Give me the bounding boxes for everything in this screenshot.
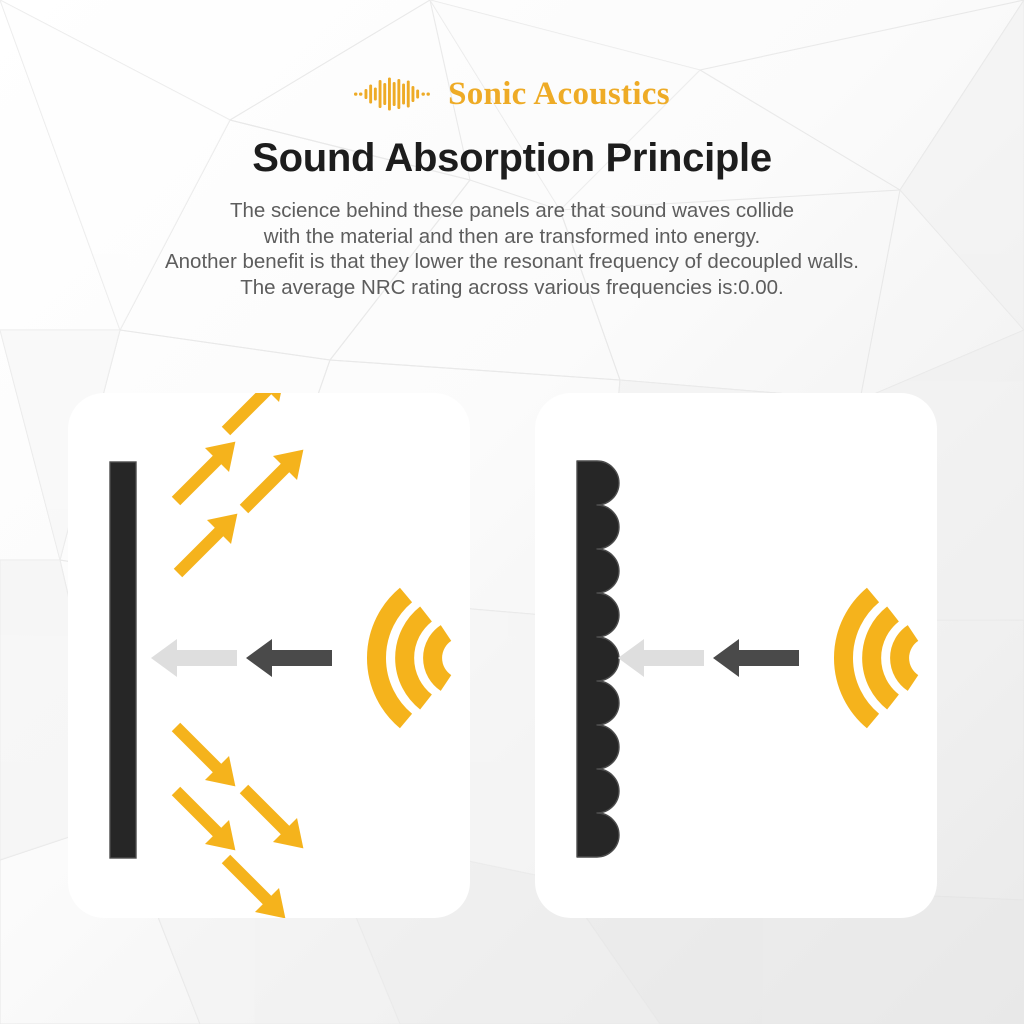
acoustic-panel-diagram — [535, 393, 937, 918]
diagram-cards — [0, 393, 1024, 918]
scalloped-acoustic-panel — [577, 461, 619, 857]
intro-line-4: The average NRC rating across various fr… — [102, 275, 922, 301]
reflected-arrows-down — [164, 715, 315, 918]
bare-wall-diagram — [68, 393, 470, 918]
intro-line-2: with the material and then are transform… — [102, 224, 922, 250]
card-acoustic-panel — [535, 393, 937, 918]
intro-paragraph: The science behind these panels are that… — [102, 198, 922, 300]
flat-wall — [110, 462, 136, 858]
absorbed-arrow — [151, 639, 237, 677]
absorbed-arrow — [618, 639, 704, 677]
card-bare-wall — [68, 393, 470, 918]
poster-stage: Sonic Acoustics Sound Absorption Princip… — [0, 0, 1024, 1024]
brand-name: Sonic Acoustics — [448, 78, 670, 111]
intro-line-3: Another benefit is that they lower the r… — [102, 249, 922, 275]
brand-lockup: Sonic Acoustics — [0, 74, 1024, 114]
poster-header: Sonic Acoustics Sound Absorption Princip… — [0, 0, 1024, 300]
sound-wave-icon — [843, 595, 913, 721]
incoming-arrow — [713, 639, 799, 677]
sound-wave-icon — [376, 595, 446, 721]
intro-line-1: The science behind these panels are that… — [102, 198, 922, 224]
incoming-arrow — [246, 639, 332, 677]
reflected-arrows-up — [164, 393, 315, 585]
audio-waveform-icon — [354, 77, 434, 111]
page-title: Sound Absorption Principle — [0, 136, 1024, 180]
